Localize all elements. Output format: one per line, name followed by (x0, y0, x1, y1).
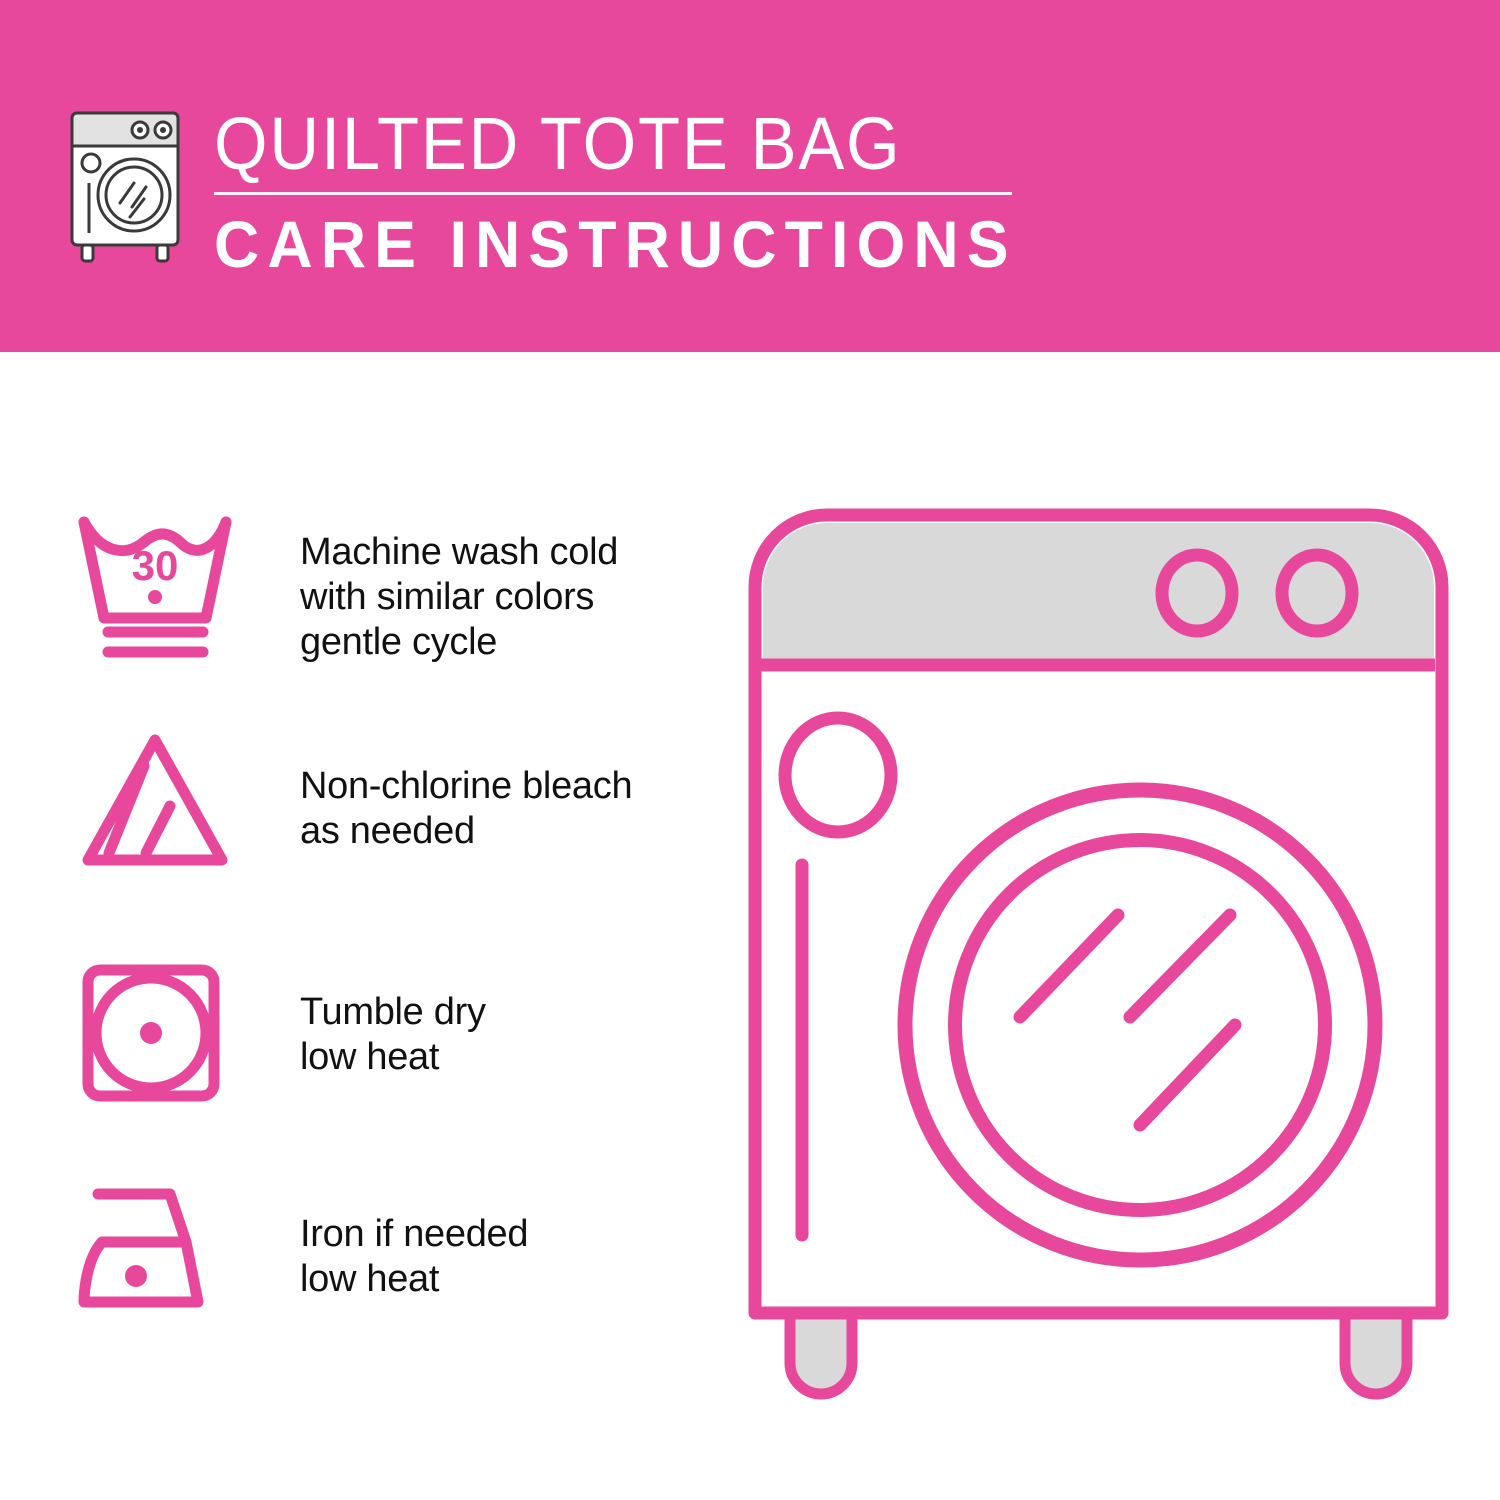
wash-tub-30-gentle-icon: 30 (70, 500, 240, 670)
care-line-2: with similar colors (300, 575, 710, 620)
care-line-3: gentle cycle (300, 620, 710, 665)
care-line-1: Machine wash cold (300, 530, 710, 575)
iron-low-heat-icon (70, 1172, 240, 1342)
large-washing-machine-illustration (745, 505, 1445, 1415)
page-subtitle: CARE INSTRUCTIONS (214, 207, 978, 281)
title-divider (214, 192, 1012, 195)
care-line-2: as needed (300, 809, 710, 854)
care-line-2: low heat (300, 1257, 710, 1302)
care-line-1: Iron if needed (300, 1212, 710, 1257)
care-row-iron: Iron if needed low heat (70, 1172, 710, 1372)
tumble-dry-low-icon (70, 950, 240, 1120)
care-text-iron: Iron if needed low heat (300, 1212, 710, 1302)
care-line-1: Tumble dry (300, 990, 710, 1035)
care-text-machine-wash: Machine wash cold with similar colors ge… (300, 530, 710, 665)
header-banner: QUILTED TOTE BAG CARE INSTRUCTIONS (0, 0, 1500, 352)
washing-machine-icon (64, 103, 192, 263)
care-instructions-page: QUILTED TOTE BAG CARE INSTRUCTIONS 30 (0, 0, 1500, 1500)
page-title: QUILTED TOTE BAG (214, 104, 962, 184)
non-chlorine-bleach-triangle-icon (70, 722, 240, 892)
care-line-1: Non-chlorine bleach (300, 764, 710, 809)
care-text-tumble-dry: Tumble dry low heat (300, 990, 710, 1080)
care-symbol-list: 30 Machine wash cold with similar colors… (70, 500, 710, 1372)
svg-text:30: 30 (132, 542, 179, 589)
care-text-bleach: Non-chlorine bleach as needed (300, 764, 710, 854)
care-row-machine-wash: 30 Machine wash cold with similar colors… (70, 500, 710, 722)
care-row-tumble-dry: Tumble dry low heat (70, 950, 710, 1172)
machine-control-panel (763, 523, 1434, 665)
care-line-2: low heat (300, 1035, 710, 1080)
header-title-block: QUILTED TOTE BAG CARE INSTRUCTIONS (214, 104, 1018, 281)
care-row-bleach: Non-chlorine bleach as needed (70, 722, 710, 950)
